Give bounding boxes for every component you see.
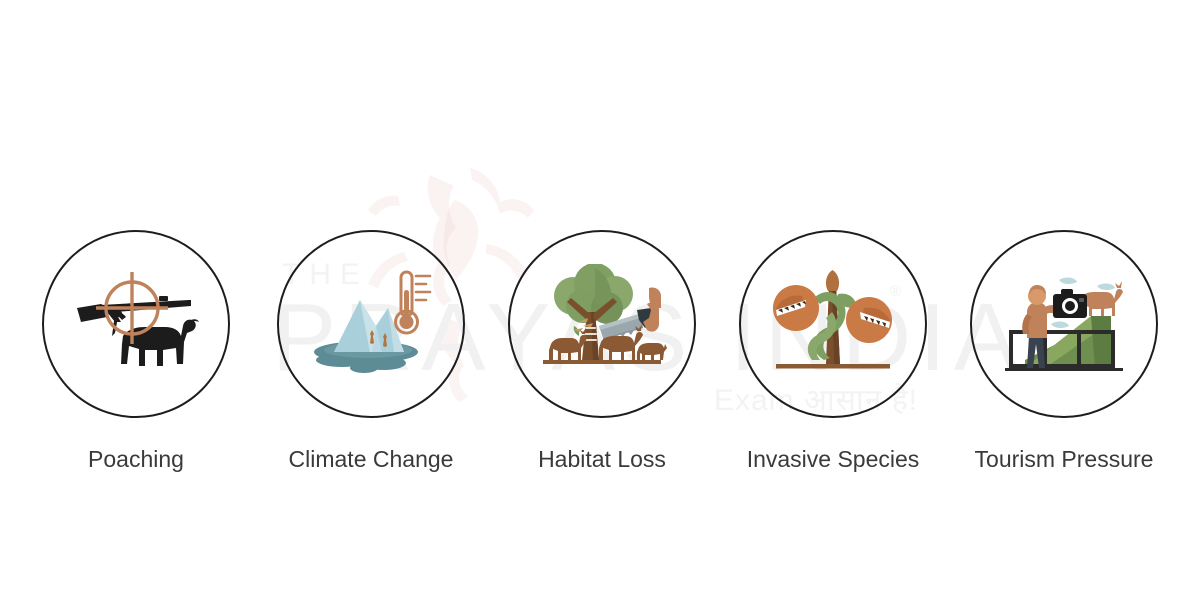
threat-label-habitat-loss: Habitat Loss [508, 446, 696, 473]
threat-item-habitat-loss[interactable]: Habitat Loss [508, 230, 696, 473]
tourist-camera-fence-deer-icon [999, 264, 1129, 384]
rifle-crosshair-animal-icon [71, 264, 201, 384]
icon-circle-habitat-loss [508, 230, 696, 418]
threat-item-tourism-pressure[interactable]: Tourism Pressure [970, 230, 1158, 473]
threat-label-tourism-pressure: Tourism Pressure [970, 446, 1158, 473]
threat-item-poaching[interactable]: Poaching [42, 230, 230, 473]
threat-item-climate-change[interactable]: Climate Change [277, 230, 465, 473]
icon-circle-tourism-pressure [970, 230, 1158, 418]
threat-label-invasive-species: Invasive Species [739, 446, 927, 473]
threat-items-row: Poaching [0, 0, 1200, 600]
icon-circle-invasive-species [739, 230, 927, 418]
carnivorous-plant-vine-icon [768, 264, 898, 384]
icon-circle-climate-change [277, 230, 465, 418]
icon-circle-poaching [42, 230, 230, 418]
threat-label-climate-change: Climate Change [277, 446, 465, 473]
infographic-canvas: THE PRAYAS INDIA ® Exam आसान है! [0, 0, 1200, 600]
threat-label-poaching: Poaching [42, 446, 230, 473]
melting-iceberg-thermometer-icon [306, 264, 436, 384]
tree-saw-deer-icon [537, 264, 667, 384]
threat-item-invasive-species[interactable]: Invasive Species [739, 230, 927, 473]
